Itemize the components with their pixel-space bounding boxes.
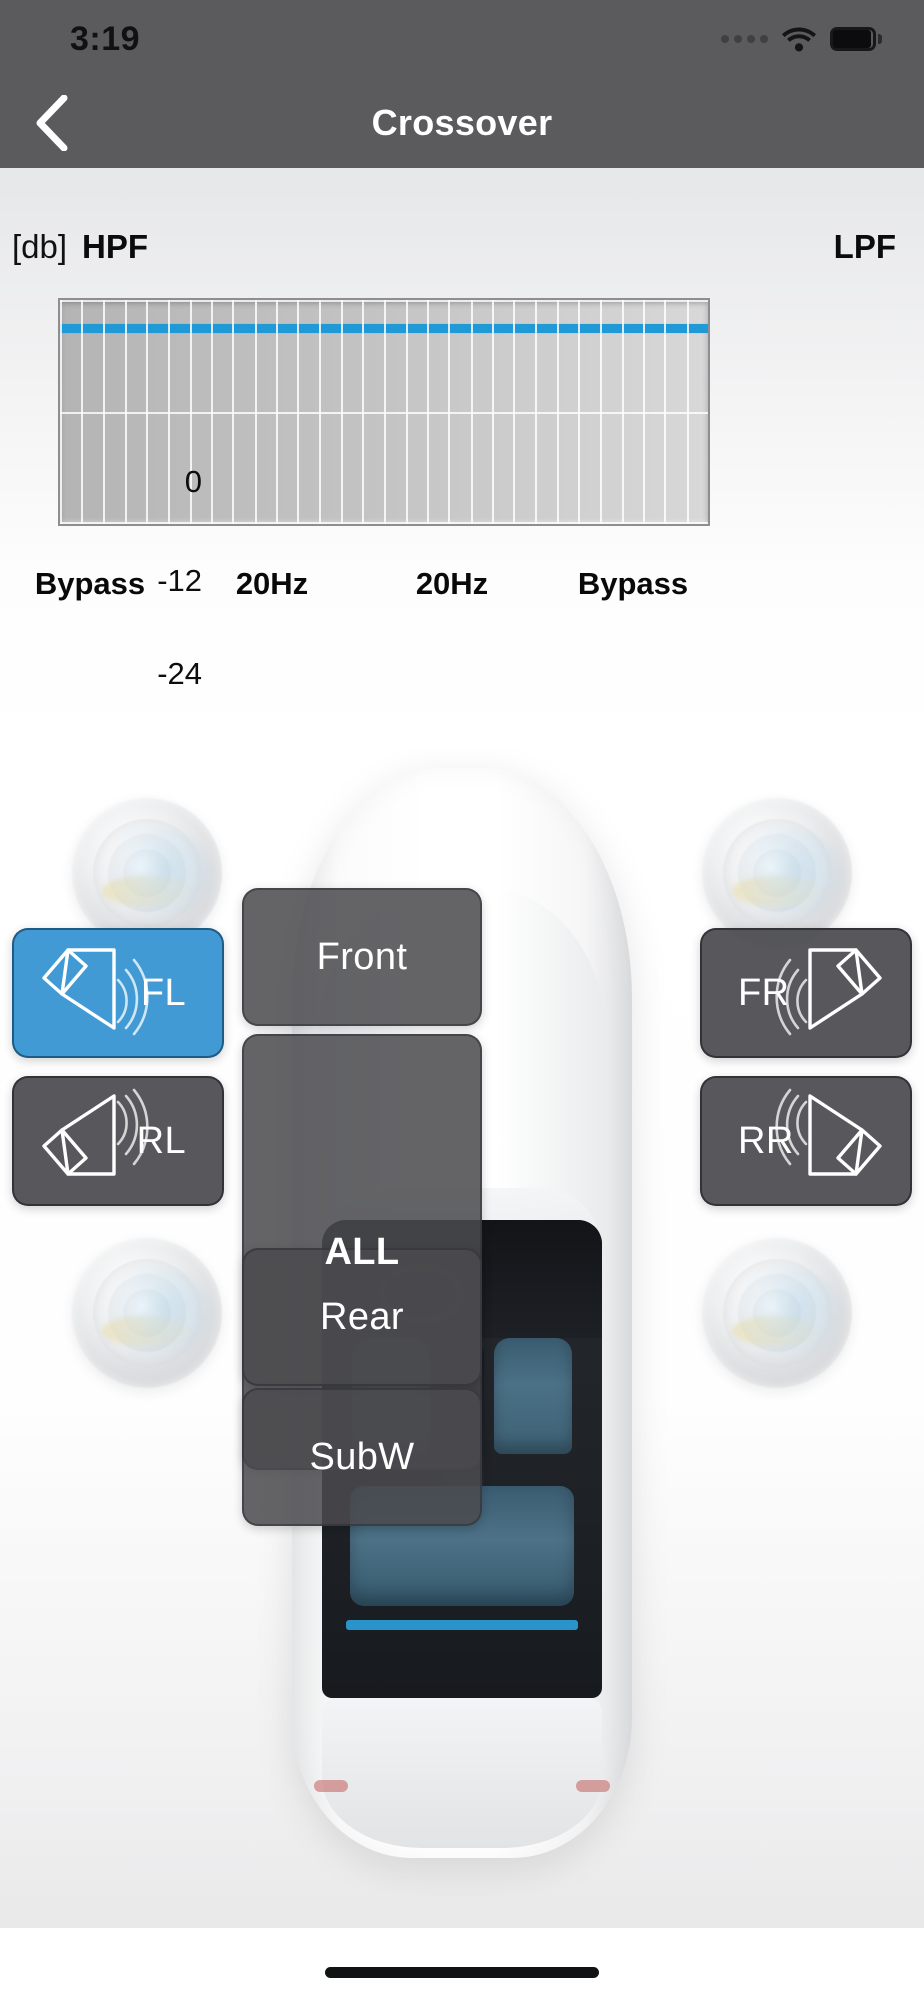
app-header: 3:19 <box>0 0 924 168</box>
speaker-button-subw-label: SubW <box>309 1436 414 1479</box>
speaker-button-rr[interactable]: RR <box>700 1076 912 1206</box>
hpf-bypass-value[interactable]: Bypass <box>35 566 145 602</box>
speaker-button-subw[interactable]: SubW <box>242 1388 482 1526</box>
wifi-icon <box>782 26 816 52</box>
speaker-button-rear-label: Rear <box>320 1296 404 1339</box>
chart-gridline-horizontal <box>60 522 708 524</box>
speaker-image-front-left <box>72 798 222 948</box>
status-indicators <box>721 26 876 52</box>
status-bar: 3:19 <box>0 0 924 78</box>
hpf-freq-value[interactable]: 20Hz <box>236 566 308 602</box>
crossover-value-row: Bypass 20Hz 20Hz Bypass <box>0 566 924 620</box>
speaker-button-rl[interactable]: RL <box>12 1076 224 1206</box>
speaker-button-fl[interactable]: FL <box>12 928 224 1058</box>
speaker-button-rl-label: RL <box>137 1120 186 1163</box>
lpf-freq-value[interactable]: 20Hz <box>416 566 488 602</box>
speaker-button-fr[interactable]: FR <box>700 928 912 1058</box>
hpf-label: HPF <box>82 228 148 266</box>
crossover-chart-section: [db] HPF LPF 0 -12 -24 Bypass 20Hz 20Hz … <box>0 168 924 748</box>
y-tick-0: 0 <box>142 464 202 500</box>
lpf-bypass-value[interactable]: Bypass <box>578 566 688 602</box>
page-title: Crossover <box>0 78 924 168</box>
speaker-image-rear-right <box>702 1238 852 1388</box>
home-indicator[interactable] <box>325 1967 599 1978</box>
speaker-button-all-label: ALL <box>324 1231 399 1274</box>
chart-header-labels: [db] HPF LPF <box>0 228 924 274</box>
signal-dots-icon <box>721 35 768 43</box>
status-time: 3:19 <box>70 20 140 59</box>
chart-gridline-vertical <box>708 300 710 524</box>
lpf-label: LPF <box>834 228 896 266</box>
speaker-image-front-right <box>702 798 852 948</box>
navigation-bar: Crossover <box>0 78 924 168</box>
crossover-screen: 3:19 <box>0 0 924 2000</box>
speaker-selection-section: Front ALL Rear SubW <box>0 748 924 1928</box>
chart-gridline-horizontal <box>60 412 708 414</box>
speaker-button-front-label: Front <box>317 936 408 979</box>
speaker-image-rear-left <box>72 1238 222 1388</box>
speaker-button-front[interactable]: Front <box>242 888 482 1026</box>
speaker-button-rr-label: RR <box>738 1120 794 1163</box>
y-tick-24: -24 <box>142 656 202 692</box>
speaker-button-fr-label: FR <box>738 972 789 1015</box>
speaker-button-fl-label: FL <box>141 972 186 1015</box>
battery-full-icon <box>830 27 876 51</box>
speaker-icon <box>34 936 154 1050</box>
chart-unit-label: [db] <box>12 228 67 266</box>
chart-gridline-horizontal <box>60 300 708 302</box>
